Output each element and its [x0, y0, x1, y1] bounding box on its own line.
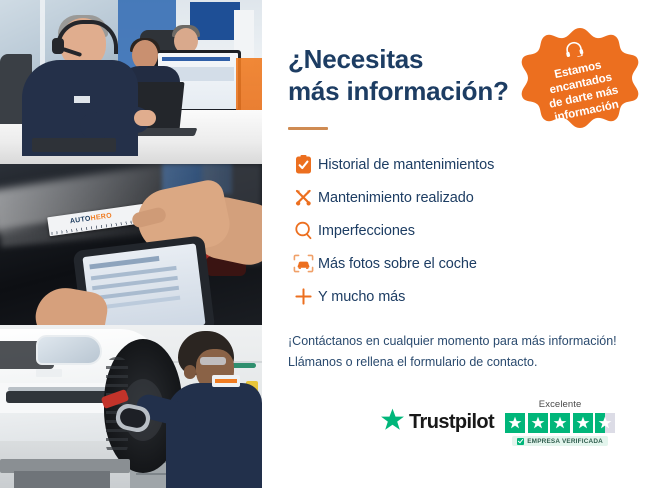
contact-line-2: Llámanos o rellena el formulario de cont… — [288, 352, 633, 372]
trustpilot-stars — [505, 413, 615, 433]
star-icon — [573, 413, 593, 433]
ruler-brand-text: AUTOHERO — [70, 212, 113, 225]
photo-call-center-agents-with-headsets — [0, 0, 262, 164]
mechanic — [166, 331, 262, 488]
star-icon — [528, 413, 548, 433]
contact-text: ¡Contáctanos en cualquier momento para m… — [288, 331, 633, 372]
crossed-tools-icon — [288, 187, 318, 208]
content-panel: ¿Necesitas más información? Historial de… — [262, 0, 650, 488]
feature-list: Historial de mantenimientos M — [288, 148, 650, 313]
photo-inspection-ruler-on-car-body: AUTOHERO — [0, 164, 262, 325]
star-icon — [505, 413, 525, 433]
title-divider — [288, 127, 328, 130]
verified-check-icon — [517, 438, 524, 445]
list-item: Mantenimiento realizado — [288, 181, 650, 214]
promo-badge-content: Estamos encantados de darte más informac… — [506, 6, 650, 153]
verified-company-label: EMPRESA VERIFICADA — [527, 438, 603, 445]
ruler-brand-second: HERO — [90, 212, 112, 222]
bumper-air-vent — [6, 391, 114, 403]
page-title-line-1: ¿Necesitas — [288, 44, 423, 74]
list-item-label: Más fotos sobre el coche — [318, 256, 477, 272]
list-item-label: Y mucho más — [318, 289, 405, 305]
list-item-label: Historial de mantenimientos — [318, 157, 494, 173]
trustpilot-rating[interactable]: Trustpilot Excelente — [380, 399, 615, 446]
uniform-logo — [212, 375, 240, 387]
headset-icon — [563, 40, 586, 64]
promo-badge-text: Estamos encantados de darte más informac… — [542, 56, 622, 125]
ruler-brand-first: AUTO — [70, 215, 92, 225]
clipboard-check-icon — [288, 155, 318, 175]
car-headlight — [36, 335, 102, 365]
list-item-label: Mantenimiento realizado — [318, 190, 474, 206]
licence-plate-holder — [36, 369, 62, 377]
contact-line-1: ¡Contáctanos en cualquier momento para m… — [288, 331, 633, 351]
contact-info-banner: AUTOHERO — [0, 0, 650, 488]
trustpilot-logo[interactable]: Trustpilot — [380, 408, 494, 446]
photo-mechanic-inspecting-wheel — [0, 325, 262, 488]
trustpilot-score-block: Excelente — [505, 399, 615, 446]
list-item: Y mucho más — [288, 280, 650, 313]
list-item: Imperfecciones — [288, 214, 650, 247]
car-lift-base — [14, 471, 110, 488]
foreground-agent — [22, 18, 140, 153]
promo-badge: Estamos encantados de darte más informac… — [518, 18, 642, 142]
list-item-label: Imperfecciones — [318, 223, 415, 239]
magnifier-icon — [288, 221, 318, 240]
photo-column: AUTOHERO — [0, 0, 262, 488]
star-half-icon — [595, 413, 615, 433]
safety-glasses-icon — [200, 357, 226, 365]
list-item: Más fotos sobre el coche — [288, 247, 650, 280]
keyboard — [32, 138, 116, 152]
plus-icon — [288, 287, 318, 306]
employee-name-badge — [74, 96, 90, 103]
trustpilot-wordmark: Trustpilot — [409, 411, 494, 434]
star-icon — [550, 413, 570, 433]
trustpilot-star-icon — [380, 408, 405, 437]
camera-focus-car-icon — [288, 254, 318, 273]
trustpilot-rating-label: Excelente — [539, 399, 582, 410]
verified-company-badge: EMPRESA VERIFICADA — [512, 436, 608, 446]
list-item: Historial de mantenimientos — [288, 148, 650, 181]
